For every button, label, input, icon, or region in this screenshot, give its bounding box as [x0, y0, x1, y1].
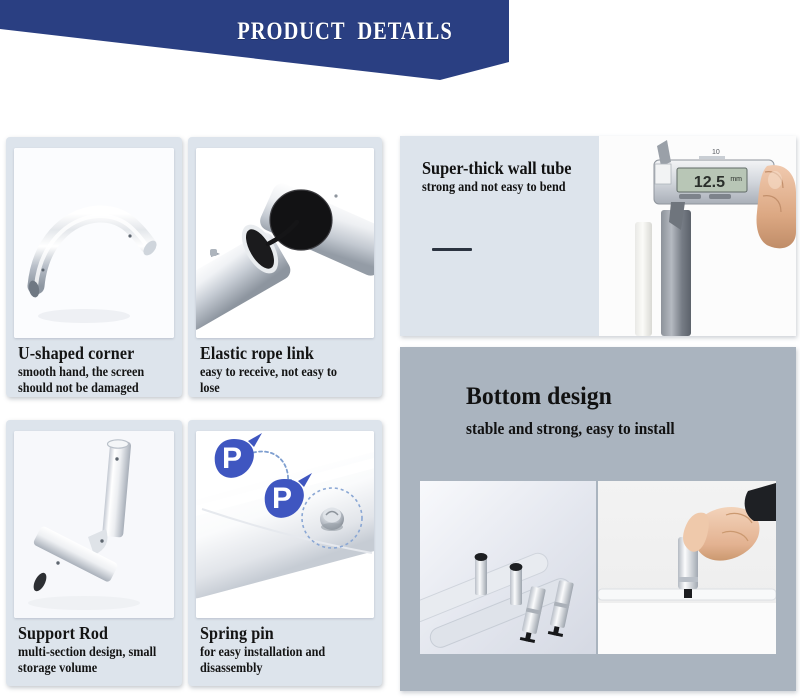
card-subtitle: for easy installation and disassembly — [200, 644, 357, 676]
panel-super-thick-wall-tube[interactable]: Super-thick wall tube strong and not eas… — [400, 136, 796, 336]
panel-subtitle: stable and strong, easy to install — [466, 419, 675, 439]
card-spring-pin[interactable]: P P Spring pin for easy installation and… — [188, 420, 382, 686]
banner-shape — [0, 0, 800, 96]
card-image-elastic-rope-link — [196, 148, 374, 338]
panel-bottom-design[interactable]: Bottom design stable and strong, easy to… — [400, 347, 796, 691]
panel-divider — [432, 248, 472, 251]
card-subtitle: easy to receive, not easy to lose — [200, 364, 357, 396]
card-support-rod[interactable]: Support Rod multi-section design, small … — [6, 420, 182, 686]
card-elastic-rope-link[interactable]: Elastic rope link easy to receive, not e… — [188, 137, 382, 397]
panel-title: Bottom design — [466, 383, 612, 411]
panel-image-caliper: 12.5 mm 10 — [599, 136, 796, 336]
card-caption-u-shaped-corner: U-shaped corner smooth hand, the screen … — [18, 344, 174, 396]
caliper-unit: mm — [730, 176, 742, 183]
card-subtitle: smooth hand, the screen should not be da… — [18, 364, 158, 396]
page-banner: PRODUCT DETAILS — [0, 0, 800, 96]
panel-image-base-feet — [420, 481, 596, 654]
card-title: Elastic rope link — [200, 344, 360, 363]
card-u-shaped-corner[interactable]: U-shaped corner smooth hand, the screen … — [6, 137, 182, 397]
card-image-u-shaped-corner — [14, 148, 174, 338]
page-title: PRODUCT DETAILS — [210, 18, 481, 46]
svg-text:P: P — [222, 442, 242, 475]
panel-title: Super-thick wall tube — [422, 158, 572, 179]
card-caption-spring-pin: Spring pin for easy installation and dis… — [200, 624, 374, 676]
panel-image-install — [598, 481, 776, 654]
card-image-support-rod — [14, 431, 174, 618]
card-image-spring-pin: P P — [196, 431, 374, 618]
caliper-reading: 12.5 — [694, 174, 725, 191]
card-subtitle: multi-section design, small storage volu… — [18, 644, 158, 676]
card-title: Support Rod — [18, 624, 162, 643]
card-title: Spring pin — [200, 624, 360, 643]
svg-text:10: 10 — [712, 149, 720, 156]
card-title: U-shaped corner — [18, 344, 162, 363]
card-caption-support-rod: Support Rod multi-section design, small … — [18, 624, 174, 676]
panel-subtitle: strong and not easy to bend — [422, 179, 566, 195]
card-caption-elastic-rope-link: Elastic rope link easy to receive, not e… — [200, 344, 374, 396]
svg-text:P: P — [272, 482, 292, 515]
